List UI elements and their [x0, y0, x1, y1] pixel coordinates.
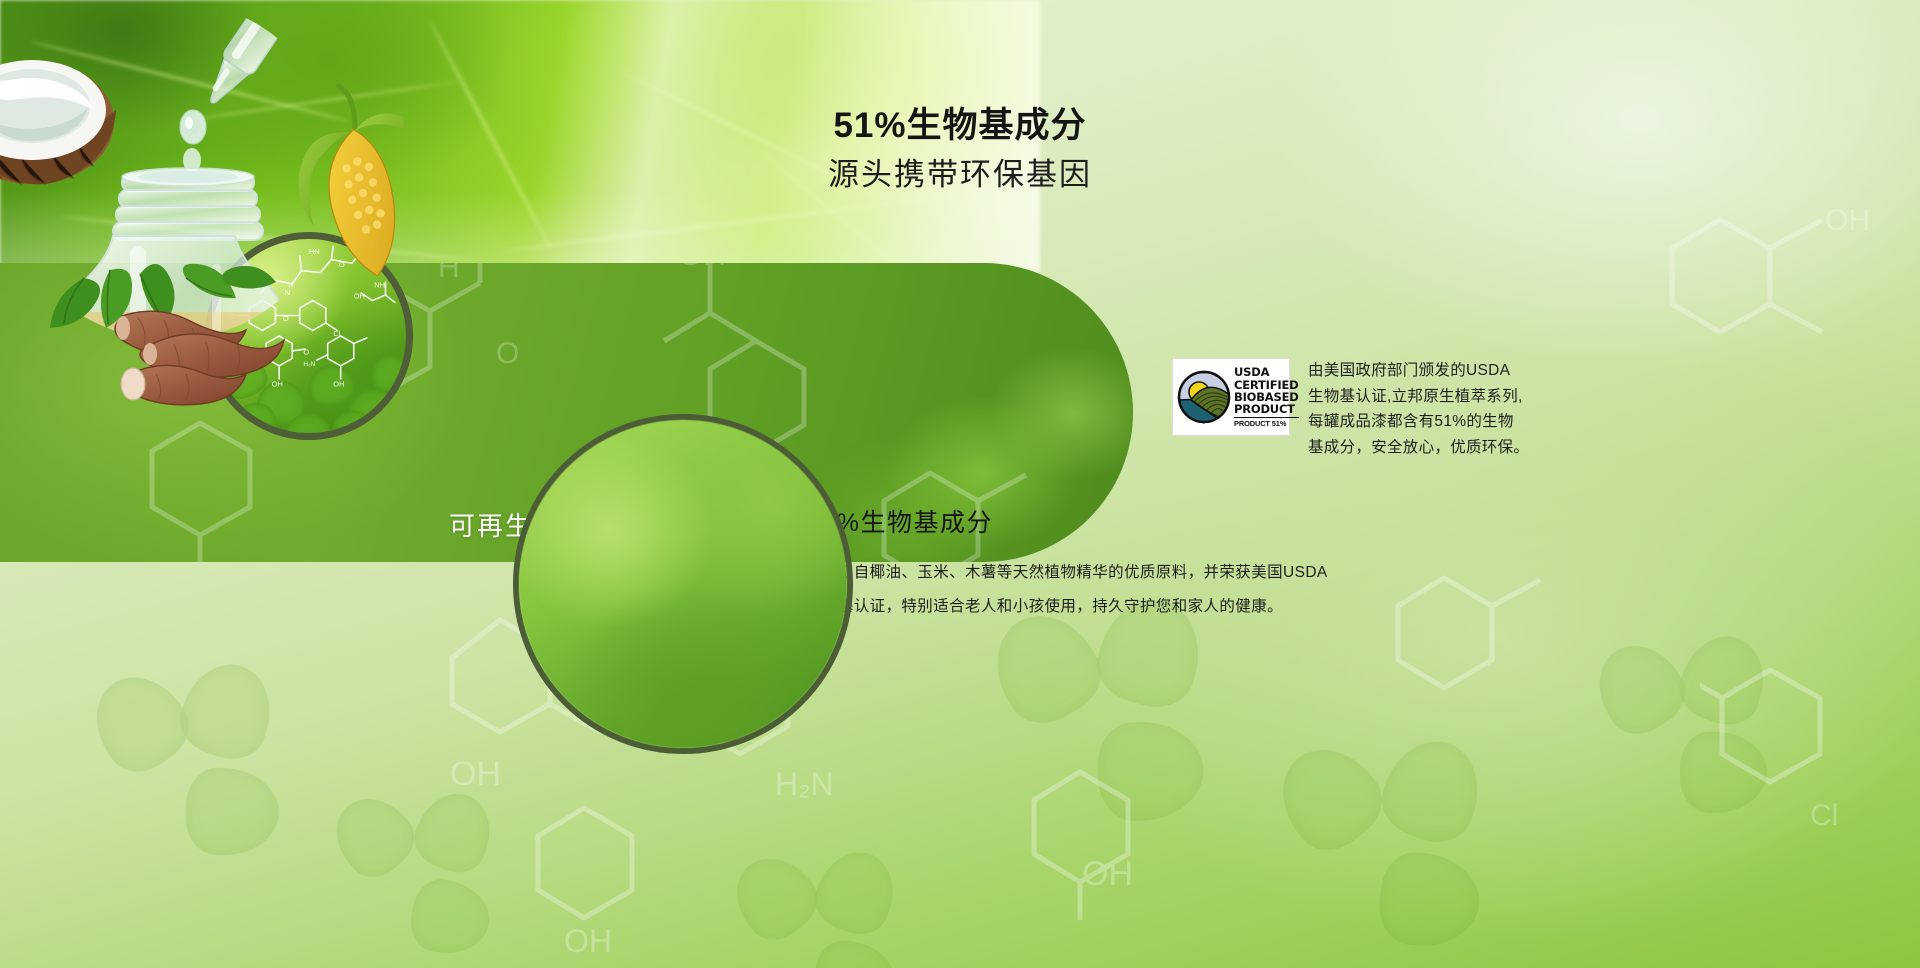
svg-text:®: ®	[1202, 420, 1205, 424]
usda-badge-line4: PRODUCT	[1234, 403, 1299, 415]
bottom-heading: 51%生物基成分	[806, 506, 1328, 540]
ingredients-illustration	[0, 0, 404, 408]
chem-watermark-far-right: Cl	[1700, 640, 1920, 870]
usda-description-line: 每罐成品漆都含有51%的生物	[1308, 409, 1529, 435]
corn-ear	[276, 68, 404, 289]
usda-badge-percent: PRODUCT 51%	[1234, 417, 1299, 428]
svg-text:OH: OH	[678, 263, 726, 272]
ingredients-circle-photo	[513, 414, 853, 754]
coconut-half	[0, 60, 116, 184]
dropper-pipette	[180, 0, 306, 172]
svg-text:H: H	[438, 263, 460, 284]
svg-text:O: O	[496, 337, 519, 370]
usda-certification-block: ® USDA CERTIFIED BIOBASED PRODUCT PRODUC…	[1172, 358, 1529, 460]
chem-watermark-lower-center: OH	[520, 790, 740, 960]
usda-description-line: 基成分，安全放心，优质环保。	[1308, 435, 1529, 461]
svg-text:H₂N: H₂N	[775, 766, 834, 802]
usda-description-line: 生物基认证,立邦原生植萃系列,	[1308, 384, 1529, 410]
bottom-text-block: 51%生物基成分 采用取自椰油、玉米、木薯等天然植物精华的优质原料，并荣获美国U…	[806, 506, 1328, 624]
bottom-paragraph-line: 采用取自椰油、玉米、木薯等天然植物精华的优质原料，并荣获美国USDA	[806, 556, 1328, 590]
chem-watermark-left-bottom: OH	[1020, 760, 1260, 960]
svg-text:Cl: Cl	[1810, 799, 1838, 832]
biobased-paint-banner: OH OH O H₂N OH Cl OH	[0, 0, 1920, 968]
svg-text:OH: OH	[1082, 855, 1133, 893]
svg-text:OH: OH	[564, 923, 612, 959]
usda-badge-line1: USDA	[1234, 366, 1299, 378]
usda-description: 由美国政府部门颁发的USDA 生物基认证,立邦原生植萃系列, 每罐成品漆都含有5…	[1308, 358, 1529, 460]
usda-logo-icon: ®	[1177, 370, 1231, 424]
ingredients-circle-background	[519, 420, 847, 748]
chem-watermark-mid-right	[1380, 560, 1600, 760]
svg-text:OH: OH	[450, 755, 501, 793]
usda-description-line: 由美国政府部门颁发的USDA	[1308, 358, 1529, 384]
svg-text:OH: OH	[1825, 204, 1870, 237]
cassava-roots	[115, 311, 284, 405]
bottom-paragraph: 采用取自椰油、玉米、木薯等天然植物精华的优质原料，并荣获美国USDA 生物基认证…	[806, 556, 1328, 624]
bottom-paragraph-line: 生物基认证，特别适合老人和小孩使用，持久守护您和家人的健康。	[806, 590, 1328, 624]
chem-watermark-right-top: OH	[1660, 190, 1890, 420]
usda-badge-wordmark: USDA CERTIFIED BIOBASED PRODUCT PRODUCT …	[1234, 366, 1299, 428]
usda-biobased-badge: ® USDA CERTIFIED BIOBASED PRODUCT PRODUC…	[1172, 358, 1290, 436]
